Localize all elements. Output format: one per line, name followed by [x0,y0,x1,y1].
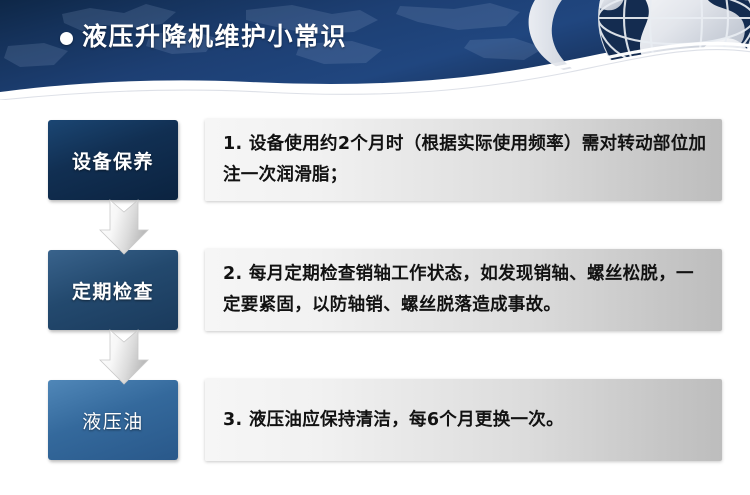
step-content-1: 1. 设备使用约2个月时（根据实际使用频率）需对转动部位加注一次润滑脂； [205,129,722,191]
page-title-text: 液压升降机维护小常识 [82,22,347,52]
step-content-3: 3. 液压油应保持清洁，每6个月更换一次。 [205,405,578,436]
down-arrow-notched-icon [96,196,152,258]
step-content-box-2[interactable]: 2. 每月定期检查销轴工作状态，如发现销轴、螺丝松脱，一定要紧固，以防轴销、螺丝… [205,249,722,331]
step-label-box-3[interactable]: 液压油 [48,380,178,460]
slide-canvas: 液压升降机维护小常识 设备保养 1. 设备使用约2个月时（根据实际使用频率）需对… [0,0,750,495]
step-content-2: 2. 每月定期检查销轴工作状态，如发现销轴、螺丝松脱，一定要紧固，以防轴销、螺丝… [205,259,722,321]
down-arrow-notched-icon [96,326,152,388]
header-banner: 液压升降机维护小常识 [0,0,750,100]
page-title: 液压升降机维护小常识 [60,22,347,52]
filled-circle-bullet-icon [60,32,73,45]
step-label-1: 设备保养 [72,147,154,174]
step-label-box-1[interactable]: 设备保养 [48,120,178,200]
step-content-box-1[interactable]: 1. 设备使用约2个月时（根据实际使用频率）需对转动部位加注一次润滑脂； [205,119,722,201]
step-content-box-3[interactable]: 3. 液压油应保持清洁，每6个月更换一次。 [205,379,722,461]
step-label-2: 定期检查 [72,277,154,304]
step-label-box-2[interactable]: 定期检查 [48,250,178,330]
connector-arrow-1 [96,196,152,258]
step-label-3: 液压油 [82,407,144,434]
connector-arrow-2 [96,326,152,388]
